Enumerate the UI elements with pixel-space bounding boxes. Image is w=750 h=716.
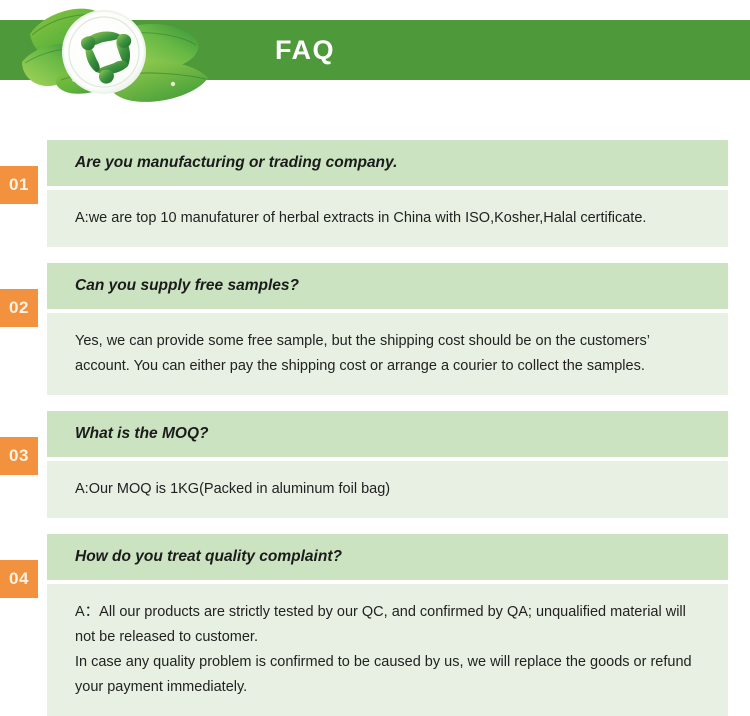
faq-answer: A：All our products are strictly tested b… bbox=[47, 584, 728, 716]
faq-number-badge: 02 bbox=[0, 289, 38, 327]
page-title: FAQ bbox=[275, 34, 335, 66]
leaf-circle-logo-icon bbox=[18, 0, 218, 110]
faq-number-badge: 04 bbox=[0, 560, 38, 598]
faq-list: 01 Are you manufacturing or trading comp… bbox=[0, 112, 750, 716]
faq-answer: A:Our MOQ is 1KG(Packed in aluminum foil… bbox=[47, 461, 728, 518]
page-header: FAQ bbox=[0, 0, 750, 112]
faq-question: Are you manufacturing or trading company… bbox=[47, 140, 728, 186]
faq-page: FAQ 01 Are you manufacturing or trading … bbox=[0, 0, 750, 668]
faq-item: 01 Are you manufacturing or trading comp… bbox=[0, 140, 750, 247]
faq-number-badge: 01 bbox=[0, 166, 38, 204]
faq-answer: A:we are top 10 manufaturer of herbal ex… bbox=[47, 190, 728, 247]
faq-question: Can you supply free samples? bbox=[47, 263, 728, 309]
faq-item: 04 How do you treat quality complaint? A… bbox=[0, 534, 750, 716]
faq-number-badge: 03 bbox=[0, 437, 38, 475]
faq-item: 03 What is the MOQ? A:Our MOQ is 1KG(Pac… bbox=[0, 411, 750, 518]
faq-question: How do you treat quality complaint? bbox=[47, 534, 728, 580]
faq-item: 02 Can you supply free samples? Yes, we … bbox=[0, 263, 750, 395]
faq-question: What is the MOQ? bbox=[47, 411, 728, 457]
faq-answer: Yes, we can provide some free sample, bu… bbox=[47, 313, 728, 395]
